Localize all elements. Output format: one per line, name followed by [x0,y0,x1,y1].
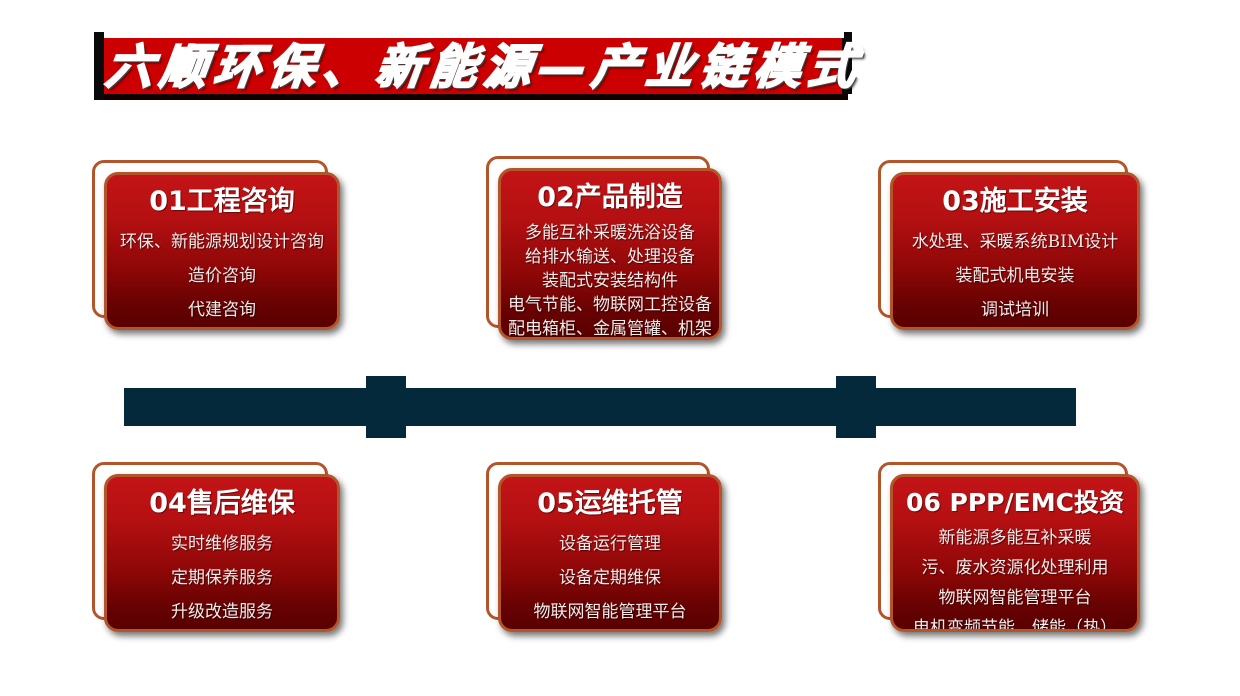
connector-tab-bottom-left [366,426,406,438]
card-line: 配电箱柜、金属管罐、机架 [507,317,713,340]
card-body: 05运维托管 设备运行管理 设备定期维保 物联网智能管理平台 [498,474,722,632]
card-line: 物联网智能管理平台 [507,595,713,629]
process-flow-label [124,388,1076,426]
stage-card-05[interactable]: 05运维托管 设备运行管理 设备定期维保 物联网智能管理平台 [498,474,722,632]
page-title: 六顺环保、新能源—产业链模式 [102,36,870,104]
stage-card-04[interactable]: 04售后维保 实时维修服务 定期保养服务 升级改造服务 [104,474,340,632]
card-line: 调试培训 [899,293,1131,327]
card-line-list: 环保、新能源规划设计咨询 造价咨询 代建咨询 [113,225,331,327]
card-line: 电气节能、物联网工控设备 [507,293,713,317]
card-body: 04售后维保 实时维修服务 定期保养服务 升级改造服务 [104,474,340,632]
card-line: 污、废水资源化处理利用 [899,554,1131,584]
card-body: 03施工安装 水处理、采暖系统BIM设计 装配式机电安装 调试培训 [890,172,1140,330]
card-line-list: 新能源多能互补采暖 污、废水资源化处理利用 物联网智能管理平台 电机变频节能、储… [899,524,1131,632]
card-body: 01工程咨询 环保、新能源规划设计咨询 造价咨询 代建咨询 [104,172,340,330]
card-line: 装配式机电安装 [899,259,1131,293]
card-line: 设备运行管理 [507,527,713,561]
card-line: 多能互补采暖洗浴设备 [507,221,713,245]
stage-card-02[interactable]: 02产品制造 多能互补采暖洗浴设备 给排水输送、处理设备 装配式安装结构件 电气… [498,168,722,340]
card-line: 定期保养服务 [113,561,331,595]
card-line: 装配式安装结构件 [507,269,713,293]
card-line: 给排水输送、处理设备 [507,245,713,269]
card-line: 升级改造服务 [113,595,331,629]
stage-card-06[interactable]: 06 PPP/EMC投资 新能源多能互补采暖 污、废水资源化处理利用 物联网智能… [890,474,1140,632]
card-line: 水处理、采暖系统BIM设计 [899,225,1131,259]
connector-tab-top-left [366,376,406,388]
card-line: 设备定期维保 [507,561,713,595]
card-title: 01工程咨询 [149,185,295,219]
card-line: 代建咨询 [113,293,331,327]
card-title: 05运维托管 [537,487,683,521]
card-title: 04售后维保 [149,487,295,521]
card-line: 电机变频节能、储能（热） [899,614,1131,633]
connector-tab-bottom-right [836,426,876,438]
stage-card-03[interactable]: 03施工安装 水处理、采暖系统BIM设计 装配式机电安装 调试培训 [890,172,1140,330]
card-line-list: 多能互补采暖洗浴设备 给排水输送、处理设备 装配式安装结构件 电气节能、物联网工… [507,221,713,340]
card-title: 06 PPP/EMC投资 [906,487,1124,518]
card-line: 造价咨询 [113,259,331,293]
connector-tab-top-right [836,376,876,388]
card-line: 物联网智能管理平台 [899,584,1131,614]
card-title: 02产品制造 [537,181,683,215]
card-line-list: 设备运行管理 设备定期维保 物联网智能管理平台 [507,527,713,629]
card-body: 06 PPP/EMC投资 新能源多能互补采暖 污、废水资源化处理利用 物联网智能… [890,474,1140,632]
card-line: 新能源多能互补采暖 [899,524,1131,554]
stage-card-01[interactable]: 01工程咨询 环保、新能源规划设计咨询 造价咨询 代建咨询 [104,172,340,330]
card-title: 03施工安装 [942,185,1088,219]
card-line-list: 实时维修服务 定期保养服务 升级改造服务 [113,527,331,629]
card-line: 环保、新能源规划设计咨询 [113,225,331,259]
process-flow-band [124,388,1076,426]
card-line: 实时维修服务 [113,527,331,561]
card-line-list: 水处理、采暖系统BIM设计 装配式机电安装 调试培训 [899,225,1131,327]
infographic-canvas: 六顺环保、新能源—产业链模式 01工程咨询 环保、新能源规划设计咨询 造价咨询 … [0,0,1240,696]
card-body: 02产品制造 多能互补采暖洗浴设备 给排水输送、处理设备 装配式安装结构件 电气… [498,168,722,340]
